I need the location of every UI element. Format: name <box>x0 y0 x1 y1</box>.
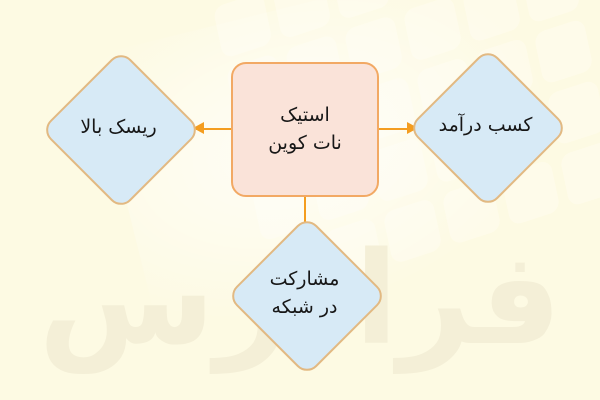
node-label-high-risk-line1: ریسک بالا <box>80 116 156 138</box>
node-label-stake-notcoin-line1: استیک <box>268 102 342 130</box>
node-stake-notcoin[interactable]: استیک نات کوین <box>231 62 379 197</box>
node-label-earn-income-line1: کسب درآمد <box>439 114 533 136</box>
connector-line-to-high-risk <box>196 128 232 130</box>
node-label-network-participation: مشارکت در شبکه <box>270 266 340 321</box>
node-earn-income[interactable]: کسب درآمد <box>408 48 563 203</box>
node-label-network-participation-line2: در شبکه <box>270 294 340 322</box>
node-label-high-risk: ریسک بالا <box>80 114 156 142</box>
node-label-stake-notcoin-line2: نات کوین <box>268 130 342 158</box>
node-high-risk[interactable]: ریسک بالا <box>41 50 196 205</box>
node-label-stake-notcoin: استیک نات کوین <box>268 102 342 157</box>
node-network-participation[interactable]: مشارکت در شبکه <box>227 216 382 371</box>
node-label-network-participation-line1: مشارکت <box>270 266 340 294</box>
diagram-canvas: فرادرس ریسک بالا کسب درآمد مشارکت در شبک… <box>0 0 600 400</box>
node-label-earn-income: کسب درآمد <box>439 112 533 140</box>
